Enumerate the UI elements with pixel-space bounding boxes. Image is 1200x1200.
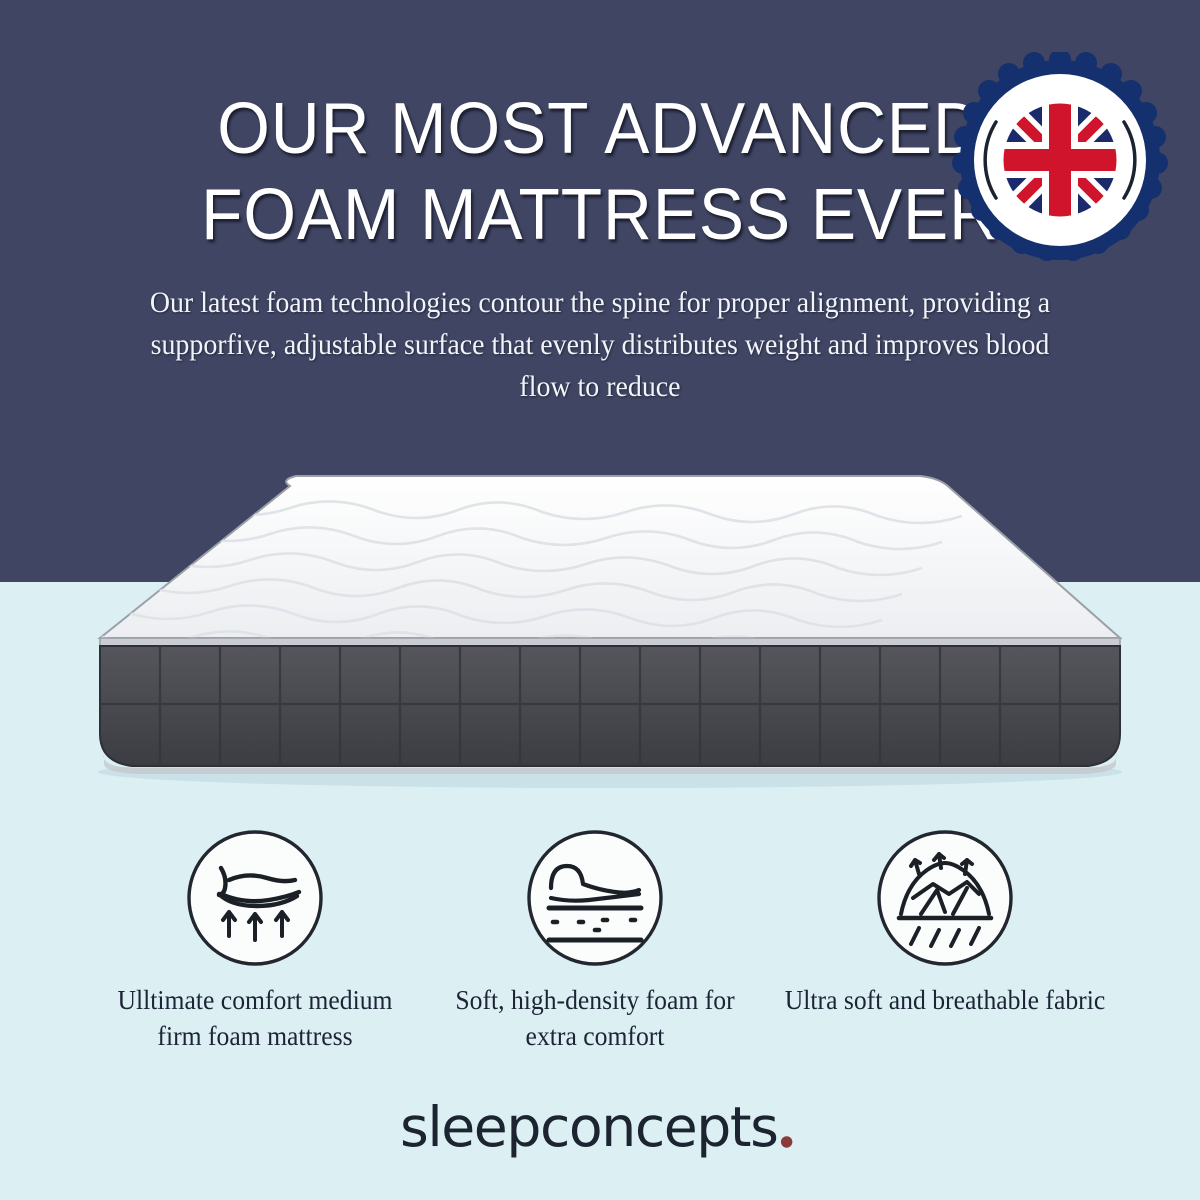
feature-item: Soft, high-density foam for extra comfor… xyxy=(425,828,765,1054)
brand-logo-dot xyxy=(781,1136,792,1147)
union-jack-badge xyxy=(952,52,1168,268)
mattress-top-surface xyxy=(84,476,1120,653)
subcopy-paragraph: Our latest foam technologies contour the… xyxy=(144,282,1055,408)
mattress-product-image xyxy=(84,466,1136,796)
feature-item: Ulltimate comfort medium firm foam mattr… xyxy=(85,828,425,1054)
feature-list: Ulltimate comfort medium firm foam mattr… xyxy=(0,828,1200,1098)
breathable-fabric-airflow-icon xyxy=(875,828,1015,968)
layered-foam-body-profile-icon xyxy=(525,828,665,968)
feature-caption: Ultra soft and breathable fabric xyxy=(784,982,1107,1018)
feature-caption: Soft, high-density foam for extra comfor… xyxy=(434,982,757,1054)
brand-logo-text: sleepconcepts xyxy=(400,1098,777,1160)
union-jack-roundel xyxy=(1002,102,1118,218)
feature-caption: Ulltimate comfort medium firm foam mattr… xyxy=(94,982,417,1054)
product-advertisement: OUR MOST ADVANCED FOAM MATTRESS EVER Our… xyxy=(0,0,1200,1200)
body-on-mattress-support-arrows-icon xyxy=(185,828,325,968)
feature-item: Ultra soft and breathable fabric xyxy=(775,828,1115,1018)
brand-logo: sleepconcepts xyxy=(0,1098,1200,1178)
mattress-side-panel xyxy=(100,646,1120,774)
